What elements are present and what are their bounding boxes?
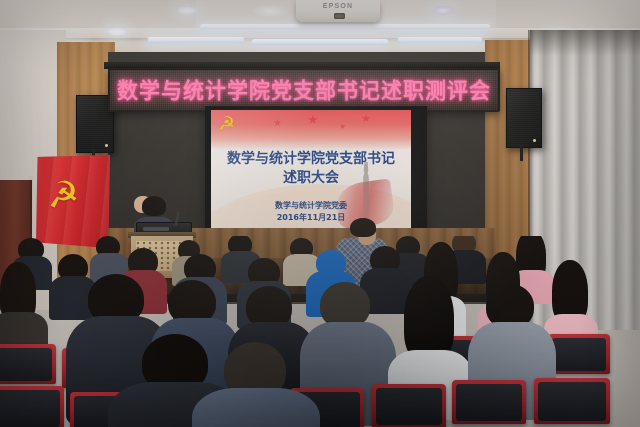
seat-cushion [538, 382, 606, 421]
seat-cushion [0, 348, 52, 381]
slide-star-icon: ★ [307, 115, 319, 125]
speaker-led-icon [533, 139, 536, 142]
projector-brand-label: EPSON [296, 3, 380, 10]
projector-lens-icon [334, 13, 345, 19]
lecture-hall-photo: EPSON 数学与统计学院党支部书记述职测评会 ★ ★ ★ ★ ☭ [0, 0, 640, 427]
hammer-and-sickle-icon: ☭ [46, 176, 81, 214]
speaker-bracket-right [520, 145, 523, 161]
torso [192, 388, 320, 427]
slide-star-icon: ★ [273, 119, 282, 129]
auditorium-seat[interactable] [534, 378, 610, 424]
slide-star-icon: ★ [361, 114, 371, 124]
speaker-grille-icon [509, 91, 539, 145]
downlight-icon [432, 6, 454, 15]
downlight-icon [176, 6, 198, 15]
laptop-screen-icon [143, 227, 169, 231]
audience-seating-area [0, 236, 640, 427]
seat-cushion [456, 384, 522, 421]
projector-light-glow [250, 4, 290, 18]
slide-title-line2: 述职大会 [211, 169, 411, 188]
led-banner-text: 数学与统计学院党支部书记述职测评会 [117, 74, 491, 106]
ceiling-tube-light [398, 37, 482, 43]
projection-screen: ★ ★ ★ ★ ☭ 数学与统计学院党支部书记 述职大会 数学与统计学院党委 20… [211, 110, 411, 234]
wall-speaker-right [506, 88, 542, 148]
ceiling-tube-light [252, 39, 388, 45]
slide-star-icon: ★ [339, 122, 346, 132]
slide-subtitle: 数学与统计学院党委 [211, 200, 411, 212]
auditorium-seat[interactable] [0, 344, 56, 384]
speaker-grille-icon [79, 98, 111, 150]
party-emblem-icon: ☭ [218, 115, 242, 135]
slide-title-line1: 数学与统计学院党支部书记 [227, 151, 395, 167]
ceiling-tube-light [148, 37, 244, 43]
cove-light-strip [200, 24, 490, 29]
slide-title: 数学与统计学院党支部书记 述职大会 [211, 150, 411, 188]
downlight-icon [106, 27, 128, 36]
seat-cushion [0, 390, 60, 427]
curtain-top-shadow [530, 30, 640, 56]
presenter-hair [142, 196, 166, 216]
seat-cushion [552, 338, 606, 371]
seat-cushion [376, 388, 442, 425]
auditorium-seat[interactable] [452, 380, 526, 424]
standing-man-hair [350, 218, 376, 237]
auditorium-seat[interactable] [372, 384, 446, 427]
ceiling-projector: EPSON [296, 0, 380, 22]
speaker-led-icon [105, 144, 108, 147]
auditorium-seat[interactable] [0, 386, 64, 427]
auditorium-seat[interactable] [548, 334, 610, 374]
